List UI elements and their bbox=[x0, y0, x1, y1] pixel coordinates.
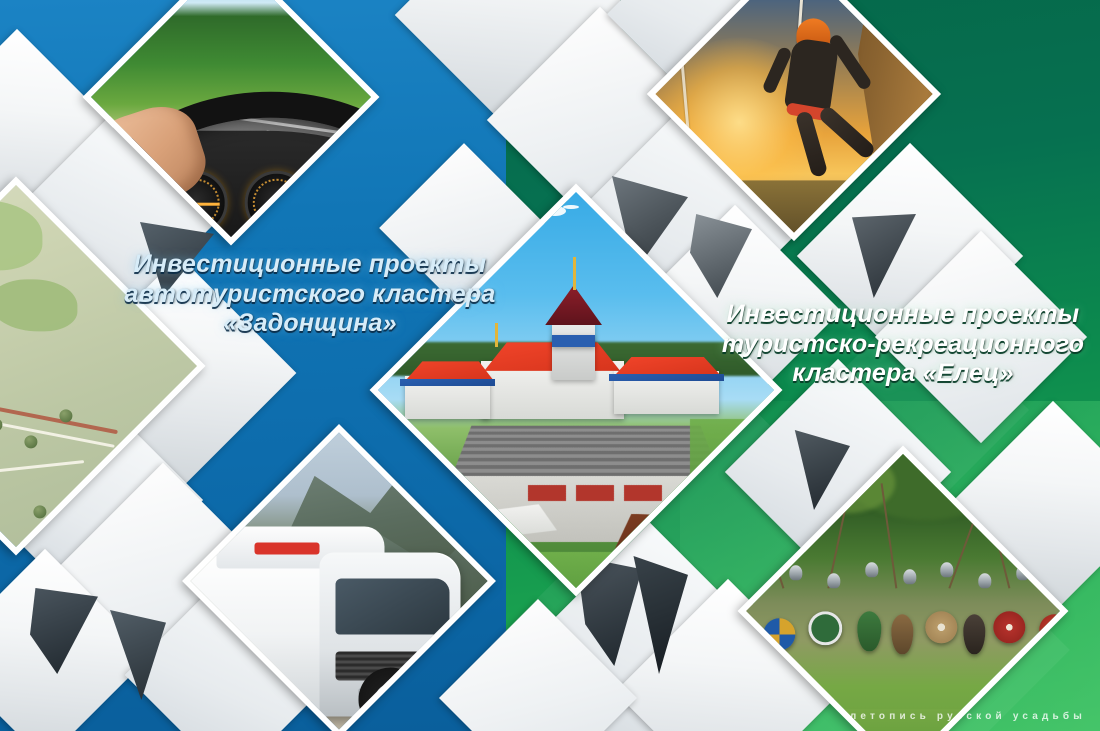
green-field-2 bbox=[0, 279, 77, 331]
climber-figure bbox=[775, 14, 861, 164]
presentation-slide: Инвестиционные проекты автотуристского к… bbox=[0, 0, 1100, 731]
helmet bbox=[941, 562, 954, 577]
right-cluster-title: Инвестиционные проекты туристско-рекреац… bbox=[712, 300, 1094, 389]
shield-green-tall bbox=[858, 611, 882, 651]
helmet bbox=[828, 573, 841, 588]
left-cluster-title: Инвестиционные проекты автотуристского к… bbox=[120, 250, 500, 339]
tower-band bbox=[552, 335, 595, 346]
shield-green-cross bbox=[809, 611, 843, 645]
white-path-1 bbox=[0, 383, 115, 447]
camper-windshield bbox=[336, 579, 450, 635]
camper-logo-stripe bbox=[254, 543, 319, 554]
shield-red-serpent bbox=[994, 611, 1026, 643]
watermark-text: летопись русской усадьбы bbox=[850, 711, 1086, 722]
tree bbox=[33, 505, 46, 518]
helmet bbox=[790, 566, 803, 581]
right-wing-roof-blue bbox=[609, 374, 723, 382]
tree bbox=[25, 436, 38, 449]
shield-dark-tall bbox=[963, 615, 985, 655]
shield-brown-tall bbox=[892, 615, 914, 655]
helmet bbox=[865, 562, 878, 577]
white-path-2 bbox=[0, 461, 84, 491]
seating-block bbox=[528, 485, 566, 501]
green-field-1 bbox=[0, 201, 42, 271]
helmet bbox=[903, 569, 916, 584]
seating-block bbox=[576, 485, 614, 501]
tower-spire bbox=[573, 257, 576, 290]
tower-dome-roof bbox=[545, 285, 602, 325]
helmet bbox=[978, 573, 991, 588]
amphitheater-seating bbox=[451, 425, 721, 478]
shield-tan-round bbox=[926, 611, 958, 643]
left-wing-roof-blue bbox=[400, 379, 495, 387]
tower-body bbox=[552, 323, 595, 380]
seating-block bbox=[624, 485, 662, 501]
